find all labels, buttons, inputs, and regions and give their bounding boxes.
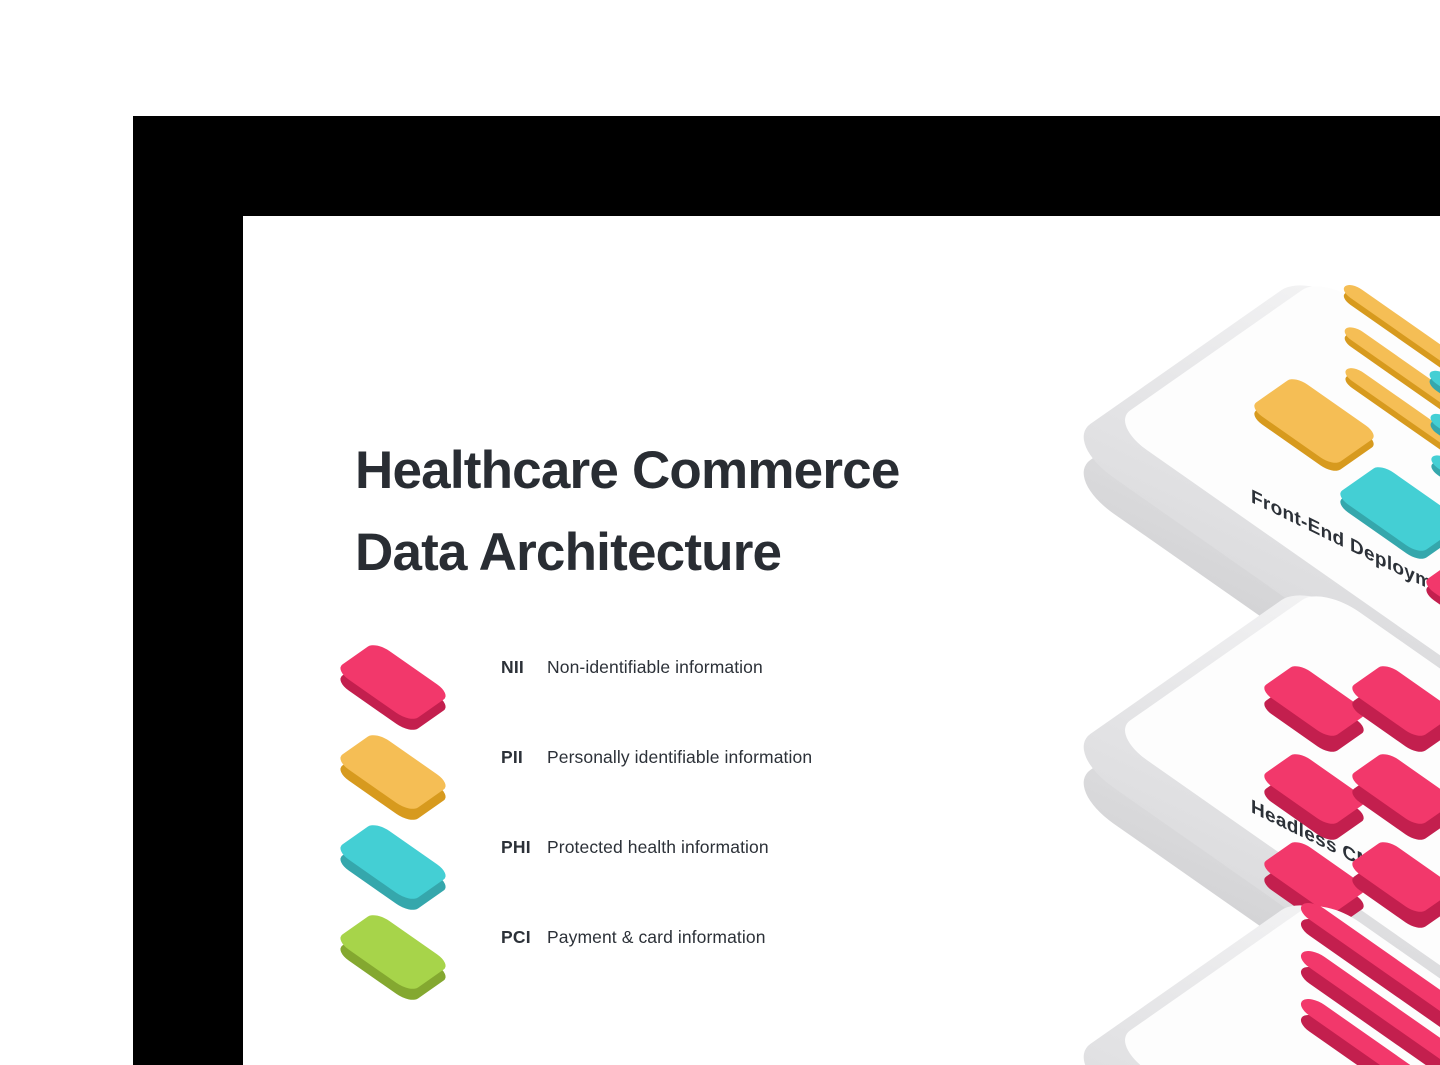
- architecture-layer-bottom: [1203, 906, 1440, 1065]
- legend-abbr-pii: PII: [501, 747, 523, 768]
- page-title: Healthcare Commerce Data Architecture: [355, 430, 995, 594]
- legend-item-phi: PHI Protected health information: [348, 811, 1048, 901]
- legend-desc-pii: Personally identifiable information: [547, 747, 812, 768]
- legend-desc-phi: Protected health information: [547, 837, 769, 858]
- page-title-line-1: Healthcare Commerce: [355, 430, 995, 512]
- legend-abbr-pci: PCI: [501, 927, 531, 948]
- pci-swatch-icon: [348, 915, 464, 977]
- architecture-layer-frontend: Front-End Deployment/Hosting: [1203, 286, 1440, 616]
- content-card: Healthcare Commerce Data Architecture NI…: [243, 216, 1440, 1065]
- pii-swatch-icon: [348, 735, 464, 797]
- legend-desc-pci: Payment & card information: [547, 927, 766, 948]
- phi-swatch-icon: [348, 825, 464, 887]
- legend-item-nii: NII Non-identifiable information: [348, 631, 1048, 721]
- architecture-illustration: Front-End Deployment/Hosting Headless CM…: [1033, 216, 1440, 1065]
- legend-abbr-phi: PHI: [501, 837, 531, 858]
- legend-item-pci: PCI Payment & card information: [348, 901, 1048, 991]
- legend-abbr-nii: NII: [501, 657, 524, 678]
- architecture-layer-cms: Headless CMS: [1203, 596, 1440, 926]
- page-title-line-2: Data Architecture: [355, 512, 995, 594]
- legend-desc-nii: Non-identifiable information: [547, 657, 763, 678]
- nii-swatch-icon: [348, 645, 464, 707]
- screenshot-root: Healthcare Commerce Data Architecture NI…: [0, 0, 1440, 1065]
- legend: NII Non-identifiable information PII Per…: [348, 631, 1048, 991]
- legend-item-pii: PII Personally identifiable information: [348, 721, 1048, 811]
